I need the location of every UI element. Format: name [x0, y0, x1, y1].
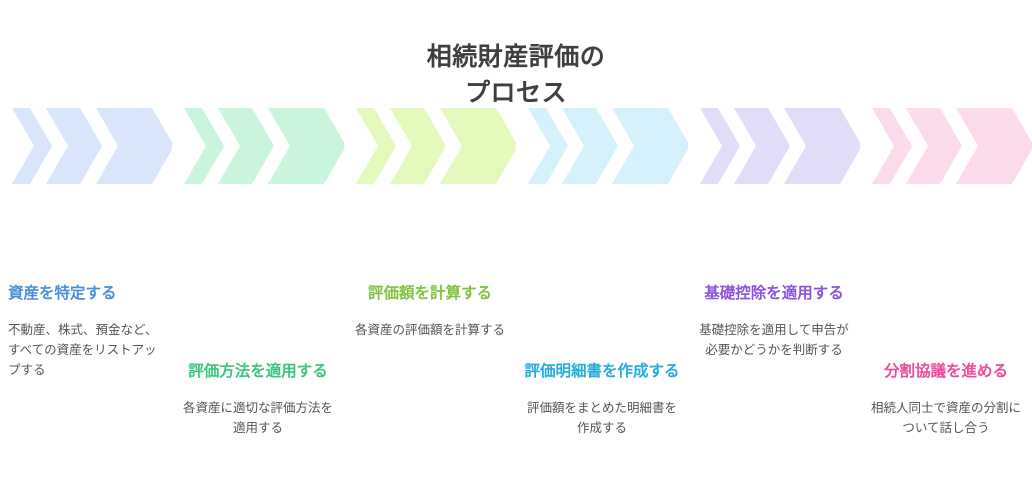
step-description-6: 相続人同士で資産の分割について話し合う [868, 398, 1024, 439]
step-description-5: 基礎控除を適用して申告が必要かどうかを判断する [696, 320, 852, 361]
step-heading-6: 分割協議を進める [868, 360, 1024, 384]
step-column-3: 評価額を計算する 各資産の評価額を計算する [344, 262, 516, 504]
step-heading-2: 評価方法を適用する [180, 360, 336, 384]
triple-chevron-arrow-icon [516, 106, 688, 186]
chevron-band [0, 106, 1032, 186]
page-title-line-1: 相続財産評価の [0, 40, 1032, 76]
step-column-1: 資産を特定する 不動産、株式、預金など、すべての資産をリストアップする [0, 262, 172, 504]
step-heading-1: 資産を特定する [8, 282, 164, 306]
step-column-4: 評価明細書を作成する 評価額をまとめた明細書を作成する [516, 262, 688, 504]
step-description-1: 不動産、株式、預金など、すべての資産をリストアップする [8, 320, 164, 381]
page-title: 相続財産評価の プロセス [0, 40, 1032, 111]
step-heading-3: 評価額を計算する [352, 282, 508, 306]
chevron-group-5 [688, 106, 860, 186]
triple-chevron-arrow-icon [860, 106, 1032, 186]
step-heading-4: 評価明細書を作成する [524, 360, 680, 384]
step-description-3: 各資産の評価額を計算する [352, 320, 508, 340]
chevron-group-2 [172, 106, 344, 186]
chevron-group-1 [0, 106, 172, 186]
chevron-group-4 [516, 106, 688, 186]
step-description-4: 評価額をまとめた明細書を作成する [524, 398, 680, 439]
step-column-6: 分割協議を進める 相続人同士で資産の分割について話し合う [860, 262, 1032, 504]
triple-chevron-arrow-icon [172, 106, 344, 186]
step-column-2: 評価方法を適用する 各資産に適切な評価方法を適用する [172, 262, 344, 504]
triple-chevron-arrow-icon [344, 106, 516, 186]
step-column-5: 基礎控除を適用する 基礎控除を適用して申告が必要かどうかを判断する [688, 262, 860, 504]
chevron-group-3 [344, 106, 516, 186]
step-columns: 資産を特定する 不動産、株式、預金など、すべての資産をリストアップする 評価方法… [0, 262, 1032, 504]
triple-chevron-arrow-icon [0, 106, 172, 186]
triple-chevron-arrow-icon [688, 106, 860, 186]
step-description-2: 各資産に適切な評価方法を適用する [180, 398, 336, 439]
infographic-root: 相続財産評価の プロセス [0, 0, 1032, 504]
chevron-group-6 [860, 106, 1032, 186]
step-heading-5: 基礎控除を適用する [696, 282, 852, 306]
